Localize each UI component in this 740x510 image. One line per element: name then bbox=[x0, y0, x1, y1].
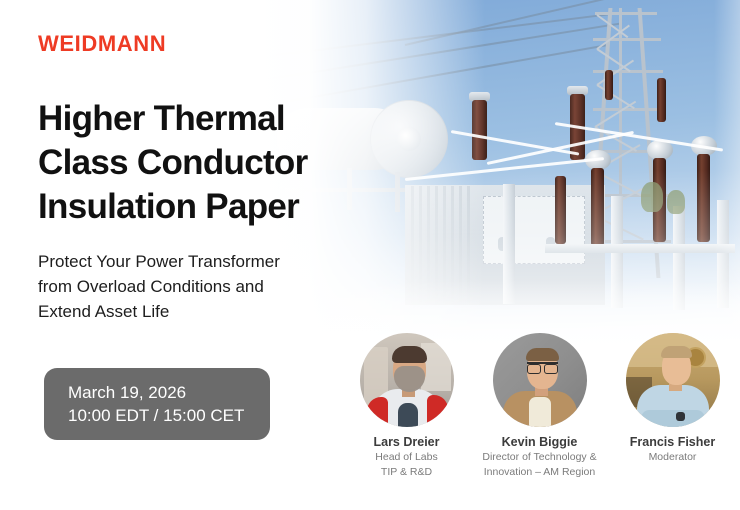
avatar-francis-fisher bbox=[626, 333, 720, 427]
speaker-name: Francis Fisher bbox=[630, 435, 715, 449]
subtitle-line-1: Protect Your Power Transformer bbox=[38, 249, 358, 274]
headline-line-1: Higher Thermal bbox=[38, 97, 378, 141]
speaker-card-kevin-biggie: Kevin Biggie Director of Technology & In… bbox=[473, 333, 606, 479]
weidmann-logo: WEIDMANN bbox=[38, 31, 166, 57]
speaker-card-francis-fisher: Francis Fisher Moderator bbox=[606, 333, 739, 479]
subtitle-line-3: Extend Asset Life bbox=[38, 299, 358, 324]
date-time-badge: March 19, 2026 10:00 EDT / 15:00 CET bbox=[44, 368, 270, 440]
page-title: Higher Thermal Class Conductor Insulatio… bbox=[38, 97, 378, 229]
speaker-role-line-1: Moderator bbox=[649, 451, 697, 464]
speaker-role-line-1: Head of Labs bbox=[375, 451, 437, 464]
headline-line-3: Insulation Paper bbox=[38, 185, 378, 229]
speaker-role-line-2: TIP & R&D bbox=[381, 466, 432, 479]
webinar-date: March 19, 2026 bbox=[68, 381, 186, 405]
headline-line-2: Class Conductor bbox=[38, 141, 378, 185]
speaker-card-lars-dreier: Lars Dreier Head of Labs TIP & R&D bbox=[340, 333, 473, 479]
webinar-time: 10:00 EDT / 15:00 CET bbox=[68, 404, 244, 428]
speaker-name: Kevin Biggie bbox=[502, 435, 578, 449]
subtitle-line-2: from Overload Conditions and bbox=[38, 274, 358, 299]
avatar-lars-dreier bbox=[360, 333, 454, 427]
speaker-role-line-1: Director of Technology & bbox=[482, 451, 596, 464]
speaker-role-line-2: Innovation – AM Region bbox=[484, 466, 596, 479]
avatar-kevin-biggie bbox=[493, 333, 587, 427]
speaker-list: Lars Dreier Head of Labs TIP & R&D Kevin… bbox=[340, 333, 740, 479]
speaker-name: Lars Dreier bbox=[373, 435, 439, 449]
page-subtitle: Protect Your Power Transformer from Over… bbox=[38, 249, 358, 324]
webinar-promo-banner: WEIDMANN Higher Thermal Class Conductor … bbox=[0, 0, 740, 510]
